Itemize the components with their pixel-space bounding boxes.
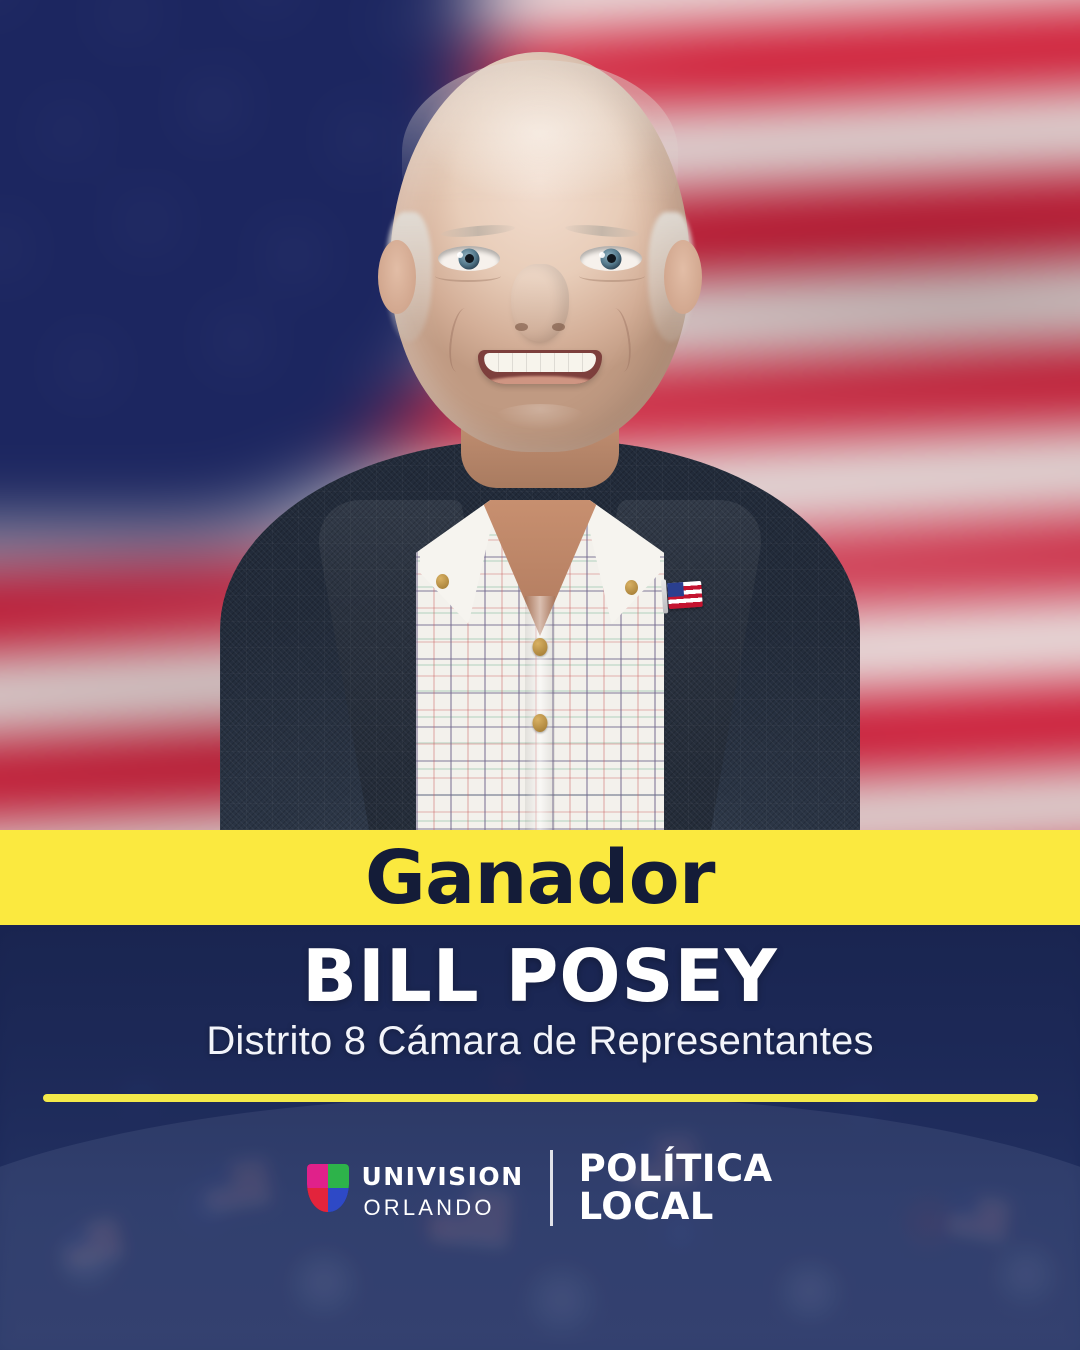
collar-button-left — [436, 574, 449, 589]
collar-button-right — [625, 580, 638, 595]
program-line-2: LOCAL — [579, 1188, 773, 1226]
shirt-button-1 — [533, 638, 548, 656]
nostril-left — [515, 323, 528, 331]
shirt-placket — [525, 596, 555, 830]
shirt-button-2 — [533, 714, 548, 732]
winner-banner: Ganador — [0, 830, 1080, 925]
candidate-portrait — [220, 0, 860, 830]
smile-line-left — [446, 307, 477, 373]
winner-office: Distrito 8 Cámara de Representantes — [206, 1019, 873, 1064]
univision-logo: univision ORLANDO — [307, 1157, 523, 1219]
ear-right — [664, 240, 702, 314]
shield-quadrant-bottom-left — [307, 1188, 328, 1212]
eye-right — [580, 246, 642, 271]
iris-right — [601, 248, 622, 269]
smile-line-right — [604, 307, 635, 373]
ear-left — [378, 240, 416, 314]
shield-quadrant-top-left — [307, 1164, 328, 1188]
pupil-left — [465, 254, 474, 263]
candidate-photo-area — [0, 0, 1080, 830]
lower-lip — [485, 376, 594, 384]
logo-divider — [550, 1150, 553, 1226]
under-eye-left — [435, 270, 501, 282]
nostril-right — [552, 323, 565, 331]
program-line-1: POLÍTICA — [579, 1150, 773, 1188]
univision-wordmark: univision — [361, 1157, 523, 1192]
logo-lockup: univision ORLANDO POLÍTICA LOCAL — [307, 1150, 772, 1227]
eye-left — [438, 246, 500, 271]
winner-name: BILL POSEY — [302, 939, 778, 1015]
yellow-divider-rule — [43, 1094, 1038, 1102]
univision-market: ORLANDO — [363, 1197, 523, 1219]
chin — [495, 404, 585, 430]
under-eye-right — [579, 270, 645, 282]
mouth — [478, 350, 602, 384]
us-flag-lapel-pin — [667, 581, 703, 609]
result-panel: BILL POSEY Distrito 8 Cámara de Represen… — [0, 925, 1080, 1350]
shield-quadrant-bottom-right — [328, 1188, 349, 1212]
pupil-right — [607, 254, 616, 263]
election-result-card: Ganador BILL POSEY Distrito 8 Cámara de … — [0, 0, 1080, 1350]
iris-left — [459, 248, 480, 269]
scalp — [402, 60, 678, 244]
teeth — [484, 353, 596, 372]
head — [390, 52, 690, 452]
eye-glint-left — [457, 252, 463, 258]
nose — [511, 264, 569, 342]
eye-glint-right — [599, 252, 605, 258]
shield-quadrant-top-right — [328, 1164, 349, 1188]
banner-title: Ganador — [365, 841, 715, 915]
univision-shield-icon — [307, 1164, 349, 1212]
program-logo: POLÍTICA LOCAL — [579, 1150, 773, 1227]
checked-shirt — [416, 500, 664, 830]
